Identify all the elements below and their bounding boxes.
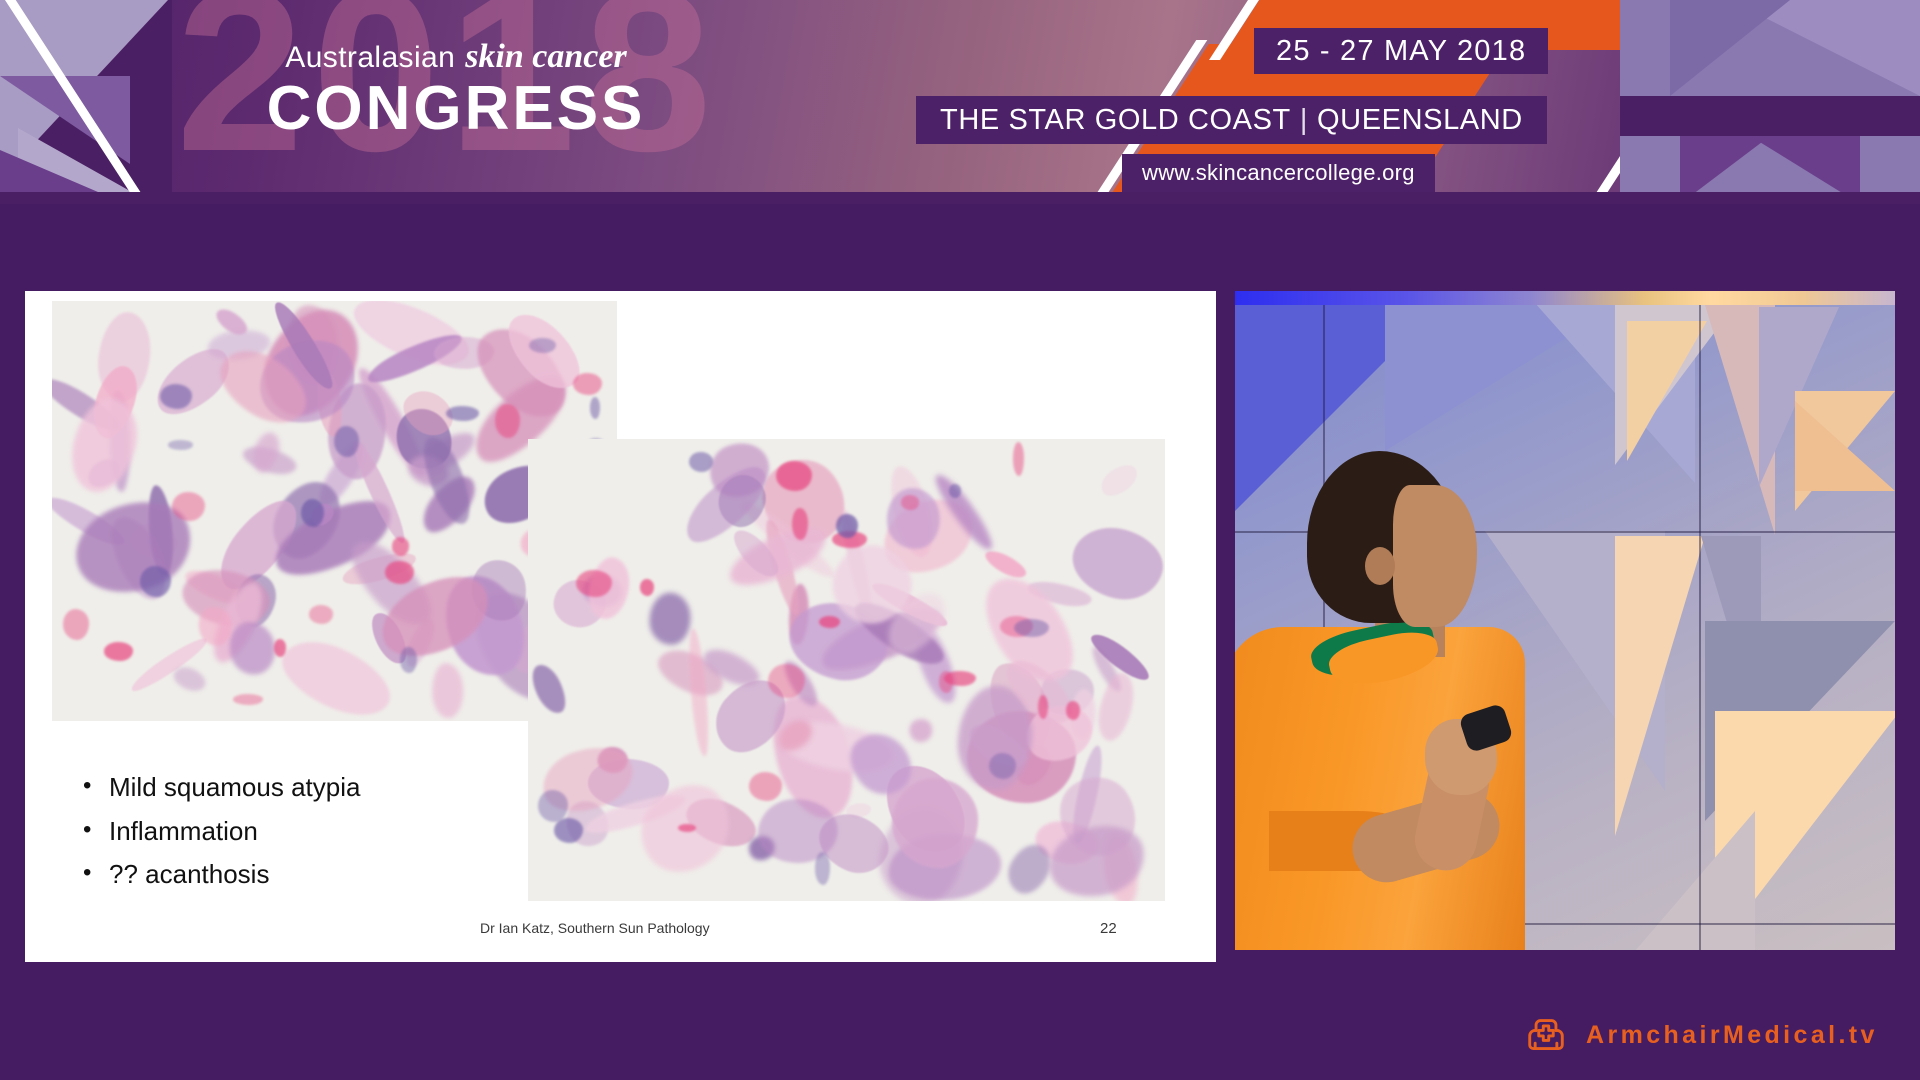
logo-congress-text: CONGRESS: [246, 76, 666, 141]
armchair-medical-branding[interactable]: ArmchairMedical.tv: [1524, 1016, 1878, 1054]
logo-skin-cancer-text: skin cancer: [465, 38, 627, 75]
panel-seam-vertical-2: [1699, 291, 1701, 950]
slide-bullet-list: • Mild squamous atypia • Inflammation • …: [83, 771, 503, 902]
list-item: • Inflammation: [83, 815, 503, 848]
venue-name: THE STAR GOLD COAST: [940, 104, 1291, 137]
logo-australasian-text: Australasian: [285, 41, 455, 74]
event-venue-badge: THE STAR GOLD COAST | QUEENSLAND: [916, 96, 1547, 144]
slide-page-number: 22: [1100, 920, 1117, 937]
backdrop-facet-glow-3: [1615, 536, 1705, 836]
presenter-video-feed[interactable]: [1235, 291, 1895, 950]
presentation-slide[interactable]: • Mild squamous atypia • Inflammation • …: [25, 291, 1216, 962]
armchair-medical-cross-icon: [1524, 1016, 1568, 1054]
list-item: • ?? acanthosis: [83, 858, 503, 891]
backdrop-facet-glow-1: [1627, 321, 1707, 461]
venue-state: QUEENSLAND: [1317, 104, 1523, 137]
event-date-badge: 25 - 27 MAY 2018: [1254, 28, 1548, 74]
list-item: • Mild squamous atypia: [83, 771, 503, 804]
bullet-marker: •: [83, 858, 109, 888]
banner-right-polygon-3: [1670, 0, 1790, 96]
stage-top-light-strip: [1235, 291, 1895, 305]
armchair-medical-wordmark: ArmchairMedical.tv: [1586, 1021, 1878, 1050]
bullet-text: Inflammation: [109, 815, 258, 848]
congress-logo-line1: Australasianskin cancer: [246, 40, 666, 74]
slide-attribution: Dr Ian Katz, Southern Sun Pathology: [480, 920, 710, 936]
presenter-figure: [1235, 451, 1555, 950]
bullet-text: ?? acanthosis: [109, 858, 269, 891]
backdrop-facet-glow-5: [1795, 401, 1895, 491]
bullet-text: Mild squamous atypia: [109, 771, 360, 804]
venue-separator: |: [1300, 104, 1308, 137]
bullet-marker: •: [83, 771, 109, 801]
histology-image-detail: [528, 439, 1165, 901]
presenter-ear: [1365, 547, 1395, 585]
presenter-face: [1393, 485, 1477, 627]
banner-left-geometry: [0, 0, 172, 204]
banner-bottom-bar: [0, 192, 1920, 204]
event-website-badge[interactable]: www.skincancercollege.org: [1122, 154, 1435, 192]
congress-logo: Australasianskin cancer CONGRESS: [246, 40, 666, 141]
presentation-stage: 2018 Australasianskin cancer CONGRESS 25…: [0, 0, 1920, 1080]
conference-header-banner: 2018 Australasianskin cancer CONGRESS 25…: [0, 0, 1920, 204]
banner-right-polygon-4: [1620, 96, 1920, 136]
backdrop-facet-10: [1635, 811, 1755, 950]
bullet-marker: •: [83, 815, 109, 845]
